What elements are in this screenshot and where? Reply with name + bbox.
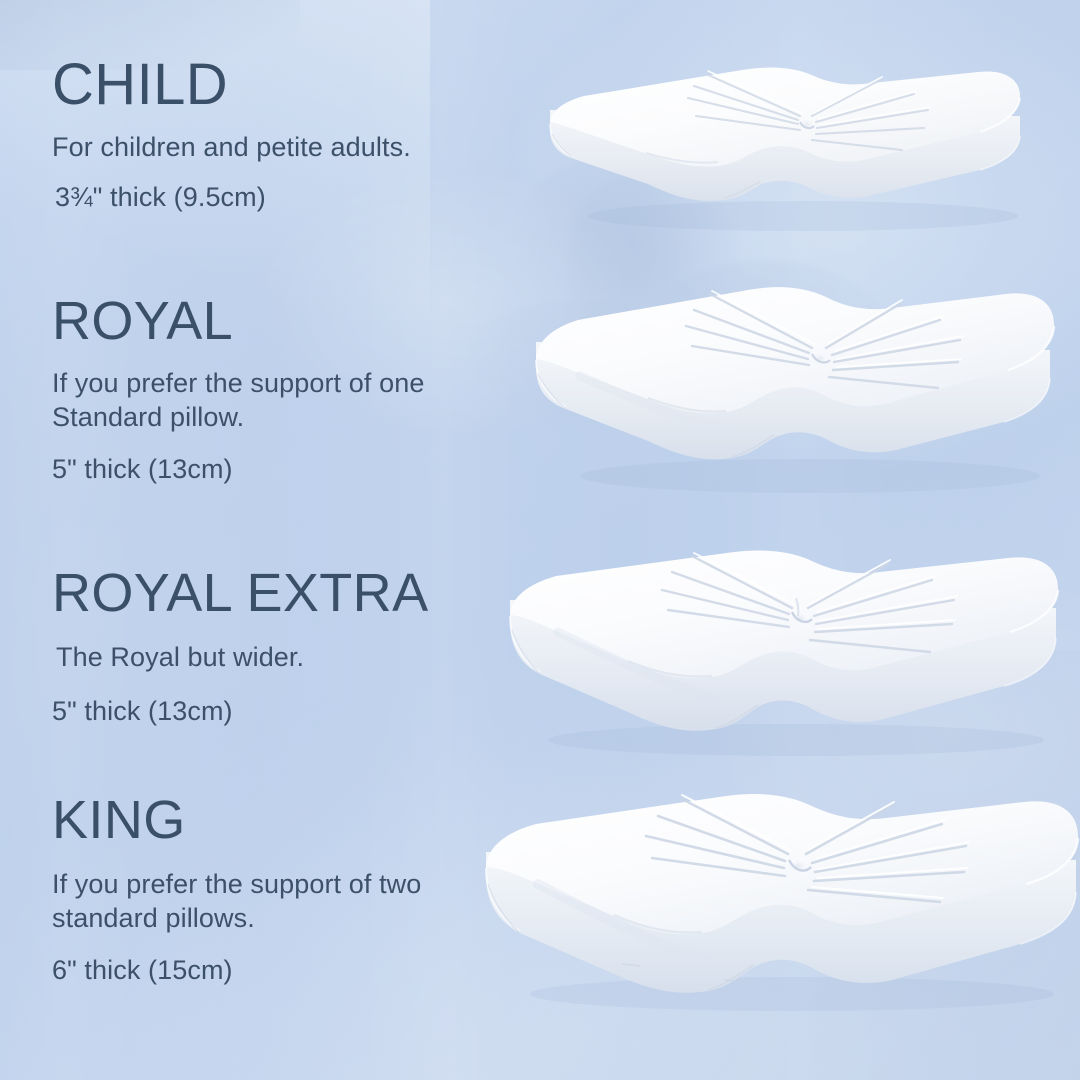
size-title-child: CHILD <box>52 56 411 114</box>
size-description-royal-extra: The Royal but wider. <box>56 640 429 674</box>
size-entry-king: KING If you prefer the support of two st… <box>52 793 472 987</box>
size-thickness-royal-extra: 5" thick (13cm) <box>52 694 429 728</box>
size-description-king: If you prefer the support of two standar… <box>52 867 472 935</box>
size-title-royal-extra: ROYAL EXTRA <box>52 566 429 620</box>
size-title-king: KING <box>52 793 472 847</box>
size-entry-royal: ROYAL If you prefer the support of one S… <box>52 294 512 486</box>
size-thickness-royal: 5" thick (13cm) <box>52 452 512 486</box>
size-description-child: For children and petite adults. <box>52 130 411 164</box>
size-title-royal: ROYAL <box>52 294 512 348</box>
size-entry-royal-extra: ROYAL EXTRA The Royal but wider. 5" thic… <box>52 566 429 728</box>
pillow-size-guide-image: CHILD For children and petite adults. 3¾… <box>0 0 1080 1080</box>
size-thickness-child: 3¾" thick (9.5cm) <box>55 180 411 214</box>
size-list: CHILD For children and petite adults. 3¾… <box>0 0 1080 1080</box>
size-description-royal: If you prefer the support of one Standar… <box>52 366 512 434</box>
size-thickness-king: 6" thick (15cm) <box>52 953 472 987</box>
size-entry-child: CHILD For children and petite adults. 3¾… <box>52 56 411 214</box>
